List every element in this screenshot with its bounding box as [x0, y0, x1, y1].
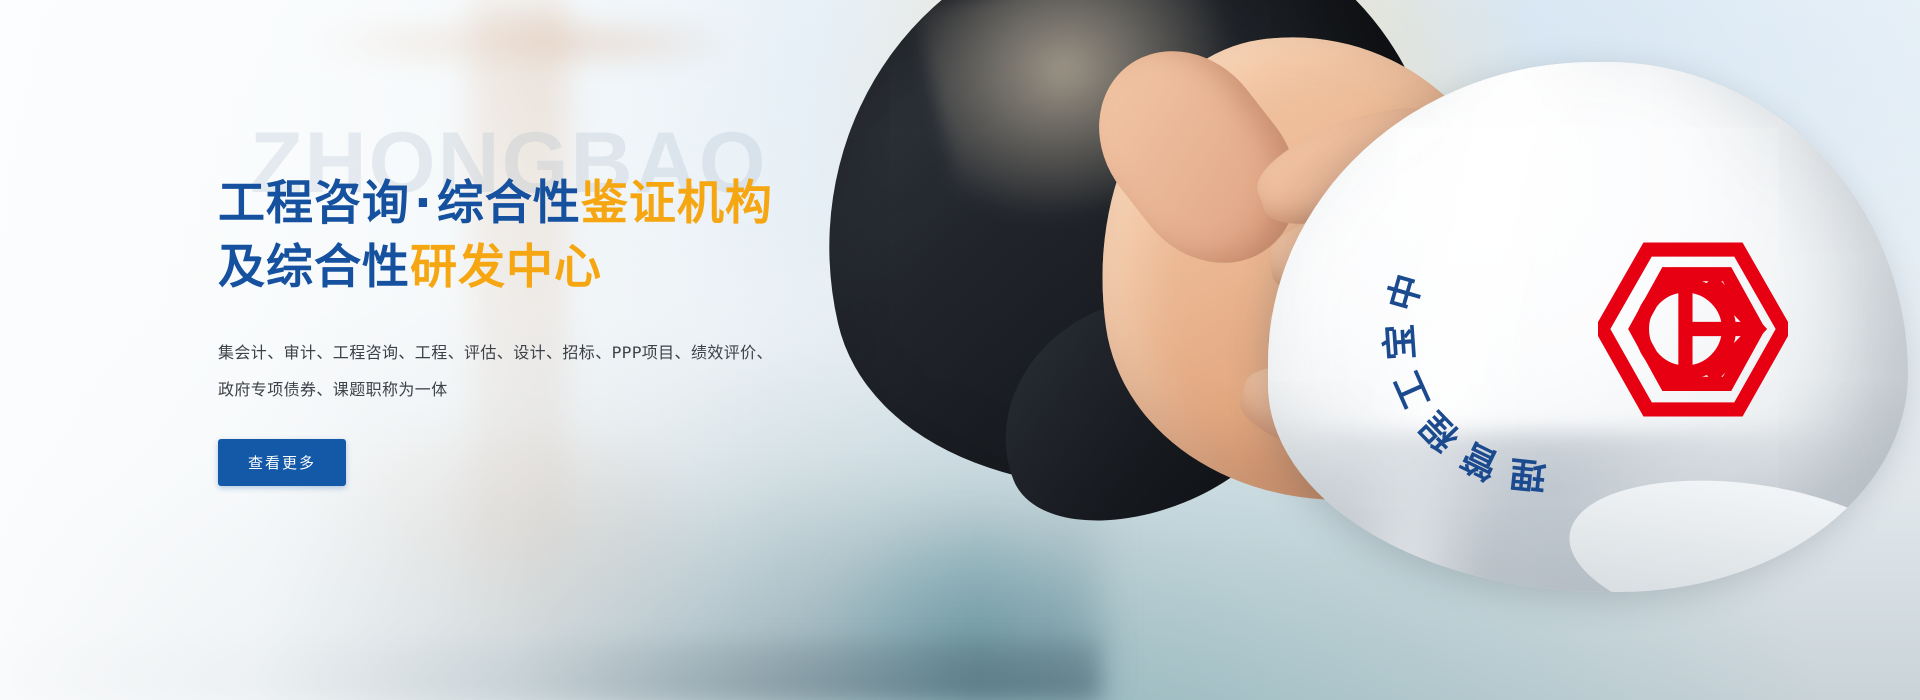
headline-line-2: 及综合性研发中心 [218, 236, 978, 300]
helmet-brand-text: 中宝工程管理 [1378, 167, 1708, 497]
description-line-1: 集会计、审计、工程咨询、工程、评估、设计、招标、PPP项目、绩效评价、 [218, 343, 773, 362]
hero-banner: 中宝工程管理 ZHONGBAO 工程咨询·综合性鉴证机构 及综合性研发中心 集会… [0, 0, 1920, 700]
headline-part-2: 综合性 [437, 176, 581, 231]
helmet-brand-char: 程 [1407, 402, 1469, 464]
description-line-2: 政府专项债券、课题职称为一体 [218, 380, 448, 399]
headline-separator-dot: · [410, 176, 437, 231]
helmet-brand-char: 宝 [1370, 322, 1424, 362]
helmet-brand-char: 工 [1379, 364, 1441, 418]
helmet-brand-char: 管 [1451, 432, 1506, 495]
headline-part-1: 工程咨询 [218, 176, 410, 231]
helmet-brand-char: 理 [1507, 449, 1548, 504]
view-more-button[interactable]: 查看更多 [218, 439, 346, 486]
headline-accent-2: 研发中心 [410, 240, 602, 295]
headline-part-3: 及综合性 [218, 240, 410, 295]
headline-accent-1: 鉴证机构 [581, 176, 773, 231]
hero-description: 集会计、审计、工程咨询、工程、评估、设计、招标、PPP项目、绩效评价、 政府专项… [218, 334, 818, 409]
helmet-brand-char: 中 [1373, 267, 1433, 316]
page-title: 工程咨询·综合性鉴证机构 及综合性研发中心 [218, 172, 978, 300]
headline-line-1: 工程咨询·综合性鉴证机构 [218, 172, 978, 236]
hero-copy-block: ZHONGBAO 工程咨询·综合性鉴证机构 及综合性研发中心 集会计、审计、工程… [218, 120, 978, 486]
